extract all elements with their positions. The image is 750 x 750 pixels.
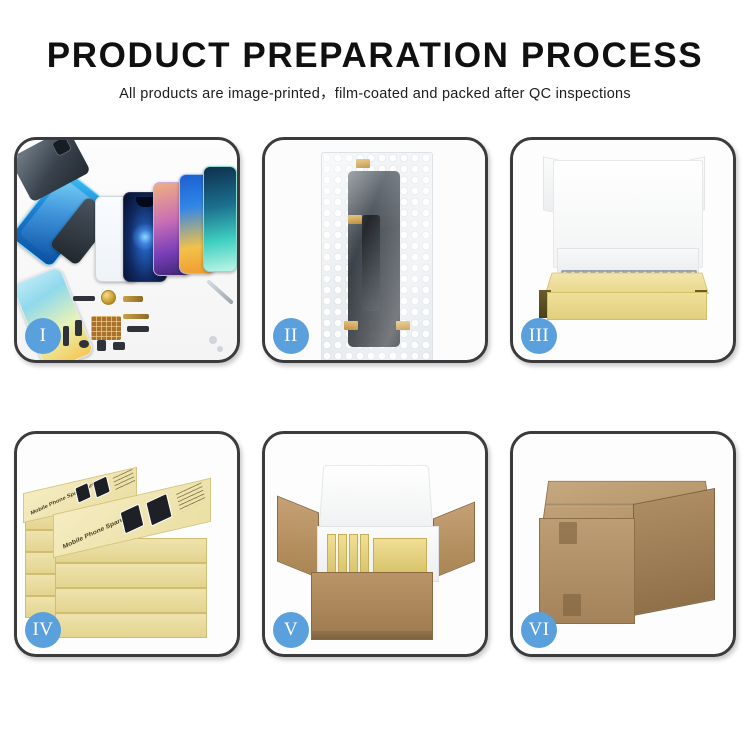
yellow-box-slot-2 [338,534,347,576]
stack-box-front-3 [55,588,207,613]
process-panel-5: V [262,431,488,657]
stack-box-front-4 [55,613,207,638]
front-label-lines [176,482,206,512]
process-grid: I II [14,137,736,657]
yellow-box-block [373,538,427,574]
screw-1 [209,336,217,344]
flex-cable-2 [123,314,149,319]
page-subtitle: All products are image-printed，film-coat… [0,84,750,104]
tweezer-tool [206,279,234,305]
step-badge-1: I [25,318,61,354]
step-badge-6: VI [521,612,557,648]
front-label-window-2 [145,493,172,527]
part-bar-2 [75,320,82,336]
tape-patch-top [559,522,577,544]
yellow-box-front [547,292,707,320]
bubble-wrap-bag [321,152,433,360]
step-badge-5: V [273,612,309,648]
carton-flap-left [277,496,319,579]
tape-patch-bottom [563,594,581,616]
infographic-page: PRODUCT PREPARATION PROCESS All products… [0,0,750,750]
rear-label-window-2 [92,475,111,498]
page-title: PRODUCT PREPARATION PROCESS [0,34,750,78]
flex-cable-1 [123,296,143,302]
yellow-box-slot-1 [327,534,336,576]
part-bracket [113,342,125,350]
yellow-boxes-inside [327,534,429,576]
gold-component [101,290,116,305]
part-bar-3 [127,326,149,332]
chip-grid-component [91,316,121,340]
header: PRODUCT PREPARATION PROCESS All products… [0,34,750,104]
screw-2 [217,346,223,352]
step-badge-4: IV [25,612,61,648]
yellow-box-lip [545,273,709,294]
part-speaker [79,340,89,348]
carton-flap-right [433,502,475,579]
process-panel-2: II [262,137,488,363]
carton-body [311,572,433,640]
styrofoam-lid [319,465,434,532]
carton-side-face [633,488,715,616]
front-label-window-1 [120,503,145,534]
stack-box-front-2 [55,563,207,588]
rear-label-lines [113,469,136,491]
part-bar-1 [73,296,95,301]
process-panel-1: I [14,137,240,363]
part-camera [97,340,106,351]
plastic-sheen [322,153,432,360]
process-panel-3: III [510,137,736,363]
process-panel-6: VI [510,431,736,657]
step-badge-3: III [521,318,557,354]
yellow-box-slot-3 [349,534,358,576]
process-panel-4: Mobile Phone Spare Parts Mobile Phone Sp… [14,431,240,657]
yellow-box-slot-4 [360,534,369,576]
step-badge-2: II [273,318,309,354]
part-antenna [63,326,69,346]
carton-front-face [539,518,635,624]
teal-gradient-phone [203,166,237,272]
